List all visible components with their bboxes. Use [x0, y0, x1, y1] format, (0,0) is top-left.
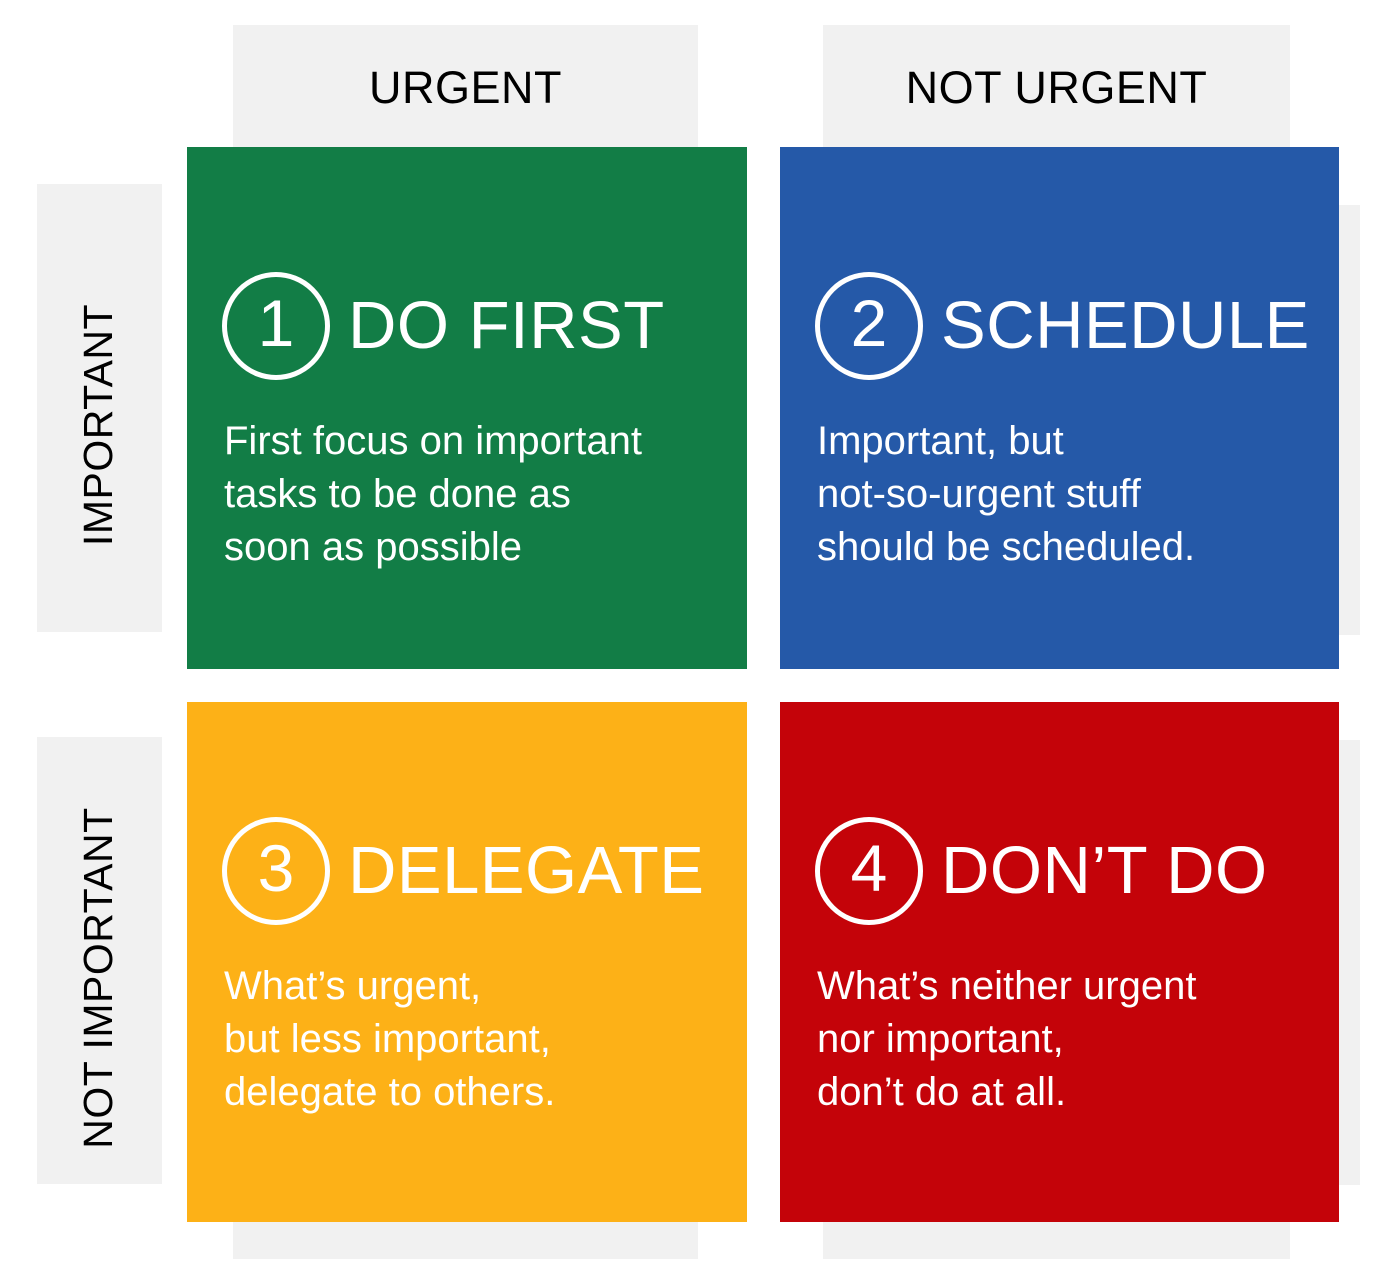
description-line: First focus on important	[224, 415, 729, 468]
quadrant-description: Important, but not-so-urgent stuff shoul…	[817, 415, 1321, 574]
quadrant-description: What’s urgent, but less important, deleg…	[224, 960, 729, 1119]
description-line: nor important,	[817, 1013, 1321, 1066]
description-line: Important, but	[817, 415, 1321, 468]
quadrant-header: 4 DON’T DO	[815, 817, 1268, 925]
description-line: should be scheduled.	[817, 521, 1321, 574]
circled-number-icon: 4	[815, 817, 923, 925]
axis-label-not-urgent: NOT URGENT	[823, 61, 1290, 115]
circled-number-icon: 1	[222, 272, 330, 380]
quadrant-dont-do[interactable]: 4 DON’T DO What’s neither urgent nor imp…	[780, 702, 1339, 1222]
quadrant-number: 2	[851, 290, 888, 356]
eisenhower-matrix: URGENT NOT URGENT IMPORTANT NOT IMPORTAN…	[0, 0, 1394, 1287]
axis-label-important: IMPORTANT	[75, 201, 121, 649]
description-line: delegate to others.	[224, 1066, 729, 1119]
axis-label-not-important: NOT IMPORTANT	[75, 754, 121, 1202]
quadrant-number: 3	[258, 835, 295, 901]
description-line: What’s urgent,	[224, 960, 729, 1013]
quadrant-delegate[interactable]: 3 DELEGATE What’s urgent, but less impor…	[187, 702, 747, 1222]
quadrant-header: 1 DO FIRST	[222, 272, 665, 380]
description-line: don’t do at all.	[817, 1066, 1321, 1119]
column-footer-band-not-urgent	[823, 1222, 1290, 1259]
axis-label-urgent: URGENT	[233, 61, 698, 115]
quadrant-description: First focus on important tasks to be don…	[224, 415, 729, 574]
quadrant-title: SCHEDULE	[941, 289, 1310, 363]
description-line: What’s neither urgent	[817, 960, 1321, 1013]
quadrant-title: DON’T DO	[941, 834, 1268, 908]
column-footer-band-urgent	[233, 1222, 698, 1259]
quadrant-header: 3 DELEGATE	[222, 817, 704, 925]
quadrant-number: 4	[851, 835, 888, 901]
quadrant-title: DO FIRST	[348, 289, 665, 363]
quadrant-description: What’s neither urgent nor important, don…	[817, 960, 1321, 1119]
quadrant-number: 1	[258, 290, 295, 356]
description-line: but less important,	[224, 1013, 729, 1066]
quadrant-header: 2 SCHEDULE	[815, 272, 1310, 380]
description-line: not-so-urgent stuff	[817, 468, 1321, 521]
quadrant-schedule[interactable]: 2 SCHEDULE Important, but not-so-urgent …	[780, 147, 1339, 669]
circled-number-icon: 2	[815, 272, 923, 380]
quadrant-do-first[interactable]: 1 DO FIRST First focus on important task…	[187, 147, 747, 669]
description-line: soon as possible	[224, 521, 729, 574]
description-line: tasks to be done as	[224, 468, 729, 521]
circled-number-icon: 3	[222, 817, 330, 925]
quadrant-title: DELEGATE	[348, 834, 704, 908]
